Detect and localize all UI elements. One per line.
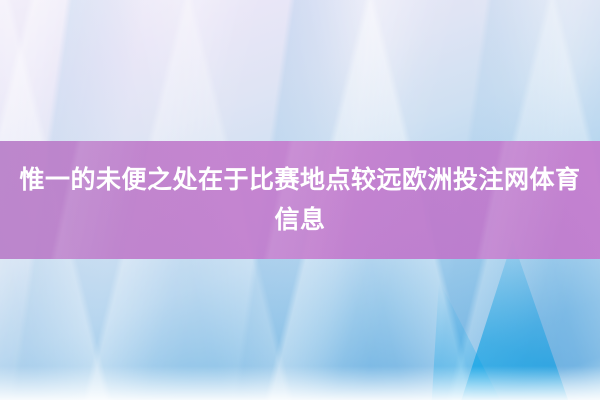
cyan-accent-wedge-secondary [430, 280, 520, 400]
caption-title: 惟一的未便之处在于比赛地点较远欧洲投注网体育信息 [0, 160, 600, 240]
promo-banner: 惟一的未便之处在于比赛地点较远欧洲投注网体育信息 [0, 0, 600, 400]
caption-band: 惟一的未便之处在于比赛地点较远欧洲投注网体育信息 [0, 141, 600, 259]
cyan-accent-wedge [455, 240, 575, 400]
bottom-white-fade [0, 366, 600, 400]
